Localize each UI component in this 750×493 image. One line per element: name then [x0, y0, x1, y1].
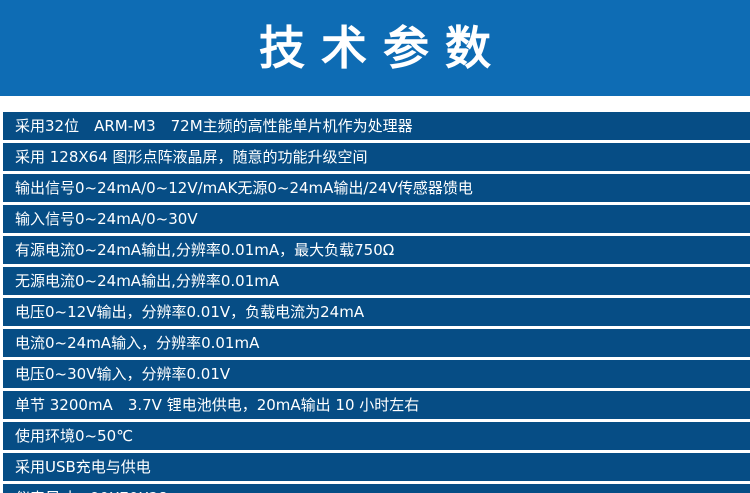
spec-row-text: 单节 3200mA 3.7V 锂电池供电，20mA输出 10 小时左右: [3, 391, 419, 419]
spec-row: 输出信号0~24mA/0~12V/mAK无源0~24mA输出/24V传感器馈电: [0, 174, 750, 202]
spec-row: 输入信号0~24mA/0~30V: [0, 205, 750, 233]
spec-row: 采用USB充电与供电: [0, 453, 750, 481]
spec-row: 无源电流0~24mA输出,分辨率0.01mA: [0, 267, 750, 295]
spec-row-text: 采用USB充电与供电: [3, 453, 151, 481]
spec-row: 单节 3200mA 3.7V 锂电池供电，20mA输出 10 小时左右: [0, 391, 750, 419]
spec-row-text: 采用 128X64 图形点阵液晶屏，随意的功能升级空间: [3, 143, 368, 171]
spec-row-text: 电流0~24mA输入，分辨率0.01mA: [3, 329, 259, 357]
spec-row-text: 使用环境0~50℃: [3, 422, 133, 450]
spec-row: 仪表尺寸：90X70X28mm: [0, 484, 750, 493]
spec-row-text: 电压0~30V输入，分辨率0.01V: [3, 360, 230, 388]
spec-row-text: 输出信号0~24mA/0~12V/mAK无源0~24mA输出/24V传感器馈电: [3, 174, 473, 202]
spec-row: 有源电流0~24mA输出,分辨率0.01mA，最大负载750Ω: [0, 236, 750, 264]
spec-row: 采用 128X64 图形点阵液晶屏，随意的功能升级空间: [0, 143, 750, 171]
spec-row: 使用环境0~50℃: [0, 422, 750, 450]
spec-row-text: 无源电流0~24mA输出,分辨率0.01mA: [3, 267, 279, 295]
spec-row-text: 电压0~12V输出，分辨率0.01V，负载电流为24mA: [3, 298, 364, 326]
header-banner: 技术参数: [0, 0, 750, 96]
page-title: 技术参数: [243, 25, 507, 71]
spec-row-text: 有源电流0~24mA输出,分辨率0.01mA，最大负载750Ω: [3, 236, 394, 264]
spec-sheet: 技术参数 采用32位 ARM-M3 72M主频的高性能单片机作为处理器 采用 1…: [0, 0, 750, 493]
spec-list: 采用32位 ARM-M3 72M主频的高性能单片机作为处理器 采用 128X64…: [0, 112, 750, 493]
spec-row: 电压0~12V输出，分辨率0.01V，负载电流为24mA: [0, 298, 750, 326]
spec-row-text: 仪表尺寸：90X70X28mm: [3, 484, 197, 493]
spec-row: 采用32位 ARM-M3 72M主频的高性能单片机作为处理器: [0, 112, 750, 140]
spec-row: 电压0~30V输入，分辨率0.01V: [0, 360, 750, 388]
spec-row: 电流0~24mA输入，分辨率0.01mA: [0, 329, 750, 357]
spec-row-text: 采用32位 ARM-M3 72M主频的高性能单片机作为处理器: [3, 112, 413, 140]
spec-row-text: 输入信号0~24mA/0~30V: [3, 205, 198, 233]
